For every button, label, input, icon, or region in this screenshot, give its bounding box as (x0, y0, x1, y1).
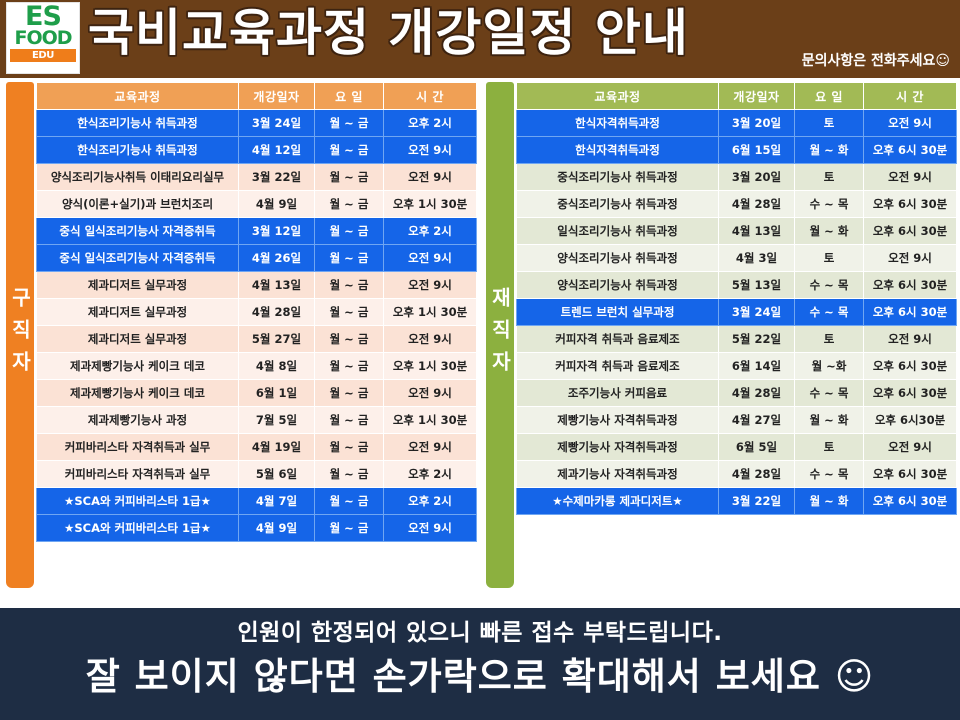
course-cell: 조주기능사 커피음료 (517, 380, 719, 407)
date-cell: 3월 24일 (719, 299, 795, 326)
course-cell: 제과디저트 실무과정 (37, 326, 239, 353)
column-header-date: 개강일자 (239, 83, 315, 110)
course-cell: 한식조리기능사 취득과정 (37, 137, 239, 164)
day-cell: 월 ~ 금 (315, 272, 384, 299)
table-row: 한식자격취득과정6월 15일월 ~ 화오후 6시 30분 (517, 137, 957, 164)
schedule-table-jaejikja: 교육과정 개강일자 요 일 시 간 한식자격취득과정3월 20일토오전 9시한식… (516, 82, 957, 515)
time-cell: 오전 9시 (384, 245, 477, 272)
date-cell: 3월 22일 (239, 164, 315, 191)
date-cell: 3월 20일 (719, 110, 795, 137)
day-cell: 월 ~ 금 (315, 434, 384, 461)
day-cell: 월 ~ 금 (315, 326, 384, 353)
date-cell: 4월 28일 (719, 461, 795, 488)
time-cell: 오전 9시 (864, 110, 957, 137)
column-header-day: 요 일 (315, 83, 384, 110)
course-cell: 커피자격 취득과 음료제조 (517, 326, 719, 353)
date-cell: 4월 28일 (719, 191, 795, 218)
course-cell: 커피바리스타 자격취득과 실무 (37, 461, 239, 488)
day-cell: 토 (795, 164, 864, 191)
table-row: 제과제빵기능사 케이크 데코4월 8일월 ~ 금오후 1시 30분 (37, 353, 477, 380)
time-cell: 오후 6시 30분 (864, 380, 957, 407)
course-cell: 중식조리기능사 취득과정 (517, 191, 719, 218)
table-row: ★SCA와 커피바리스타 1급★4월 9일월 ~ 금오전 9시 (37, 515, 477, 542)
day-cell: 토 (795, 245, 864, 272)
day-cell: 토 (795, 434, 864, 461)
table-row: 양식조리기능사 취득과정5월 13일수 ~ 목오후 6시 30분 (517, 272, 957, 299)
table-row: 양식조리기능사취득 이태리요리실무3월 22일월 ~ 금오전 9시 (37, 164, 477, 191)
table-row: 일식조리기능사 취득과정4월 13일월 ~ 화오후 6시 30분 (517, 218, 957, 245)
day-cell: 월 ~ 금 (315, 407, 384, 434)
logo-text-food: FOOD (10, 29, 76, 48)
date-cell: 6월 15일 (719, 137, 795, 164)
table-row: 커피자격 취득과 음료제조6월 14일월 ~화오후 6시 30분 (517, 353, 957, 380)
date-cell: 5월 13일 (719, 272, 795, 299)
table-row: 한식조리기능사 취득과정4월 12일월 ~ 금오전 9시 (37, 137, 477, 164)
course-cell: 양식(이론+실기)과 브런치조리 (37, 191, 239, 218)
date-cell: 4월 12일 (239, 137, 315, 164)
day-cell: 토 (795, 326, 864, 353)
table-row: 제과디저트 실무과정5월 27일월 ~ 금오전 9시 (37, 326, 477, 353)
time-cell: 오전 9시 (384, 326, 477, 353)
time-cell: 오후 6시 30분 (864, 461, 957, 488)
day-cell: 월 ~ 화 (795, 488, 864, 515)
date-cell: 4월 28일 (239, 299, 315, 326)
time-cell: 오후 2시 (384, 110, 477, 137)
day-cell: 월 ~ 금 (315, 218, 384, 245)
course-cell: 양식조리기능사 취득과정 (517, 272, 719, 299)
schedule-body-gujikja: 한식조리기능사 취득과정3월 24일월 ~ 금오후 2시한식조리기능사 취득과정… (37, 110, 477, 542)
time-cell: 오전 9시 (384, 272, 477, 299)
table-row: 제과디저트 실무과정4월 13일월 ~ 금오전 9시 (37, 272, 477, 299)
time-cell: 오전 9시 (384, 137, 477, 164)
time-cell: 오전 9시 (864, 434, 957, 461)
es-food-logo: ES FOOD EDU CENTER (6, 2, 80, 74)
table-row: 중식조리기능사 취득과정4월 28일수 ~ 목오후 6시 30분 (517, 191, 957, 218)
footer-notice-line-2: 잘 보이지 않다면 손가락으로 확대해서 보세요 ☺ (0, 652, 960, 702)
course-cell: 제과디저트 실무과정 (37, 299, 239, 326)
course-cell: 일식조리기능사 취득과정 (517, 218, 719, 245)
course-cell: 양식조리기능사취득 이태리요리실무 (37, 164, 239, 191)
time-cell: 오후 2시 (384, 218, 477, 245)
table-row: 제과디저트 실무과정4월 28일월 ~ 금오후 1시 30분 (37, 299, 477, 326)
table-header-row: 교육과정 개강일자 요 일 시 간 (37, 83, 477, 110)
schedule-table-gujikja: 교육과정 개강일자 요 일 시 간 한식조리기능사 취득과정3월 24일월 ~ … (36, 82, 477, 542)
day-cell: 토 (795, 110, 864, 137)
day-cell: 수 ~ 목 (795, 272, 864, 299)
footer-banner: 인원이 한정되어 있으니 빠른 접수 부탁드립니다. 잘 보이지 않다면 손가락… (0, 608, 960, 720)
column-header-day: 요 일 (795, 83, 864, 110)
time-cell: 오전 9시 (864, 326, 957, 353)
table-row: 제과기능사 자격취득과정4월 28일수 ~ 목오후 6시 30분 (517, 461, 957, 488)
day-cell: 수 ~ 목 (795, 461, 864, 488)
course-cell: 한식자격취득과정 (517, 137, 719, 164)
course-cell: ★수제마카롱 제과디저트★ (517, 488, 719, 515)
date-cell: 4월 13일 (239, 272, 315, 299)
day-cell: 월 ~ 화 (795, 218, 864, 245)
column-header-course: 교육과정 (517, 83, 719, 110)
table-header-row: 교육과정 개강일자 요 일 시 간 (517, 83, 957, 110)
day-cell: 수 ~ 목 (795, 299, 864, 326)
table-row: 제빵기능사 자격취득과정6월 5일토오전 9시 (517, 434, 957, 461)
table-row: 양식(이론+실기)과 브런치조리4월 9일월 ~ 금오후 1시 30분 (37, 191, 477, 218)
date-cell: 5월 6일 (239, 461, 315, 488)
time-cell: 오후 2시 (384, 488, 477, 515)
time-cell: 오후 6시 30분 (864, 488, 957, 515)
day-cell: 월 ~ 금 (315, 164, 384, 191)
time-cell: 오후 1시 30분 (384, 407, 477, 434)
day-cell: 월 ~ 금 (315, 137, 384, 164)
date-cell: 3월 24일 (239, 110, 315, 137)
time-cell: 오후 6시 30분 (864, 137, 957, 164)
time-cell: 오후 1시 30분 (384, 353, 477, 380)
day-cell: 월 ~ 금 (315, 488, 384, 515)
date-cell: 4월 9일 (239, 515, 315, 542)
day-cell: 월 ~ 금 (315, 461, 384, 488)
side-tab-jaejikja: 재직자 (486, 82, 514, 588)
course-cell: 한식조리기능사 취득과정 (37, 110, 239, 137)
date-cell: 4월 28일 (719, 380, 795, 407)
date-cell: 4월 27일 (719, 407, 795, 434)
course-cell: 트렌드 브런치 실무과정 (517, 299, 719, 326)
day-cell: 수 ~ 목 (795, 191, 864, 218)
course-cell: 제빵기능사 자격취득과정 (517, 407, 719, 434)
course-cell: 제과제빵기능사 과정 (37, 407, 239, 434)
date-cell: 4월 8일 (239, 353, 315, 380)
date-cell: 4월 19일 (239, 434, 315, 461)
date-cell: 4월 26일 (239, 245, 315, 272)
time-cell: 오후 6시 30분 (864, 272, 957, 299)
time-cell: 오후 6시 30분 (864, 218, 957, 245)
schedule-body-jaejikja: 한식자격취득과정3월 20일토오전 9시한식자격취득과정6월 15일월 ~ 화오… (517, 110, 957, 515)
time-cell: 오전 9시 (864, 245, 957, 272)
table-row: 중식 일식조리기능사 자격증취득3월 12일월 ~ 금오후 2시 (37, 218, 477, 245)
day-cell: 월 ~ 금 (315, 110, 384, 137)
day-cell: 월 ~ 금 (315, 515, 384, 542)
time-cell: 오후 6시30분 (864, 407, 957, 434)
table-row: 한식자격취득과정3월 20일토오전 9시 (517, 110, 957, 137)
course-cell: 중식 일식조리기능사 자격증취득 (37, 218, 239, 245)
date-cell: 4월 3일 (719, 245, 795, 272)
column-header-time: 시 간 (384, 83, 477, 110)
date-cell: 5월 22일 (719, 326, 795, 353)
time-cell: 오전 9시 (384, 380, 477, 407)
course-cell: 제과기능사 자격취득과정 (517, 461, 719, 488)
course-cell: 제과디저트 실무과정 (37, 272, 239, 299)
day-cell: 월 ~ 금 (315, 299, 384, 326)
time-cell: 오전 9시 (384, 164, 477, 191)
table-row: ★SCA와 커피바리스타 1급★4월 7일월 ~ 금오후 2시 (37, 488, 477, 515)
day-cell: 월 ~ 금 (315, 353, 384, 380)
table-row: 한식조리기능사 취득과정3월 24일월 ~ 금오후 2시 (37, 110, 477, 137)
day-cell: 수 ~ 목 (795, 380, 864, 407)
table-row: 중식조리기능사 취득과정3월 20일토오전 9시 (517, 164, 957, 191)
date-cell: 3월 12일 (239, 218, 315, 245)
day-cell: 월 ~화 (795, 353, 864, 380)
table-row: 커피바리스타 자격취득과 실무5월 6일월 ~ 금오후 2시 (37, 461, 477, 488)
table-row: 제과제빵기능사 케이크 데코6월 1일월 ~ 금오전 9시 (37, 380, 477, 407)
table-row: 제과제빵기능사 과정7월 5일월 ~ 금오후 1시 30분 (37, 407, 477, 434)
side-tab-label-jaejikja: 재직자 (486, 287, 514, 383)
page-header: ES FOOD EDU CENTER 국비교육과정 개강일정 안내 문의사항은 … (0, 0, 960, 78)
course-cell: ★SCA와 커피바리스타 1급★ (37, 488, 239, 515)
date-cell: 4월 9일 (239, 191, 315, 218)
day-cell: 월 ~ 금 (315, 245, 384, 272)
day-cell: 월 ~ 화 (795, 407, 864, 434)
panel-gujikja: 구직자 교육과정 개강일자 요 일 시 간 한식조리기능사 취득과정3월 24일… (0, 78, 480, 608)
course-cell: 양식조리기능사 취득과정 (517, 245, 719, 272)
logo-text-edu-center: EDU CENTER (10, 49, 76, 62)
header-subtitle: 문의사항은 전화주세요☺ (802, 50, 950, 70)
day-cell: 월 ~ 화 (795, 137, 864, 164)
time-cell: 오전 9시 (384, 434, 477, 461)
course-cell: 제과제빵기능사 케이크 데코 (37, 353, 239, 380)
course-cell: 한식자격취득과정 (517, 110, 719, 137)
column-header-time: 시 간 (864, 83, 957, 110)
table-row: ★수제마카롱 제과디저트★3월 22일월 ~ 화오후 6시 30분 (517, 488, 957, 515)
time-cell: 오후 1시 30분 (384, 299, 477, 326)
table-row: 커피바리스타 자격취득과 실무4월 19일월 ~ 금오전 9시 (37, 434, 477, 461)
column-header-date: 개강일자 (719, 83, 795, 110)
table-row: 중식 일식조리기능사 자격증취득4월 26일월 ~ 금오전 9시 (37, 245, 477, 272)
time-cell: 오전 9시 (384, 515, 477, 542)
date-cell: 3월 20일 (719, 164, 795, 191)
time-cell: 오후 6시 30분 (864, 299, 957, 326)
table-row: 조주기능사 커피음료4월 28일수 ~ 목오후 6시 30분 (517, 380, 957, 407)
panel-jaejikja: 재직자 교육과정 개강일자 요 일 시 간 한식자격취득과정3월 20일토오전 … (480, 78, 960, 608)
table-row: 양식조리기능사 취득과정4월 3일토오전 9시 (517, 245, 957, 272)
page-title: 국비교육과정 개강일정 안내 (88, 0, 689, 68)
table-row: 제빵기능사 자격취득과정4월 27일월 ~ 화오후 6시30분 (517, 407, 957, 434)
side-tab-label-gujikja: 구직자 (6, 287, 34, 383)
date-cell: 6월 5일 (719, 434, 795, 461)
date-cell: 4월 13일 (719, 218, 795, 245)
course-cell: 중식 일식조리기능사 자격증취득 (37, 245, 239, 272)
side-tab-gujikja: 구직자 (6, 82, 34, 588)
day-cell: 월 ~ 금 (315, 191, 384, 218)
course-cell: 커피자격 취득과 음료제조 (517, 353, 719, 380)
column-header-course: 교육과정 (37, 83, 239, 110)
time-cell: 오후 2시 (384, 461, 477, 488)
time-cell: 오후 6시 30분 (864, 353, 957, 380)
date-cell: 7월 5일 (239, 407, 315, 434)
date-cell: 3월 22일 (719, 488, 795, 515)
date-cell: 5월 27일 (239, 326, 315, 353)
table-row: 트렌드 브런치 실무과정3월 24일수 ~ 목오후 6시 30분 (517, 299, 957, 326)
time-cell: 오후 6시 30분 (864, 191, 957, 218)
table-row: 커피자격 취득과 음료제조5월 22일토오전 9시 (517, 326, 957, 353)
date-cell: 6월 14일 (719, 353, 795, 380)
time-cell: 오후 1시 30분 (384, 191, 477, 218)
footer-notice-line-1: 인원이 한정되어 있으니 빠른 접수 부탁드립니다. (0, 618, 960, 648)
date-cell: 6월 1일 (239, 380, 315, 407)
date-cell: 4월 7일 (239, 488, 315, 515)
course-cell: 제과제빵기능사 케이크 데코 (37, 380, 239, 407)
day-cell: 월 ~ 금 (315, 380, 384, 407)
course-cell: ★SCA와 커피바리스타 1급★ (37, 515, 239, 542)
time-cell: 오전 9시 (864, 164, 957, 191)
course-cell: 중식조리기능사 취득과정 (517, 164, 719, 191)
course-cell: 커피바리스타 자격취득과 실무 (37, 434, 239, 461)
course-cell: 제빵기능사 자격취득과정 (517, 434, 719, 461)
